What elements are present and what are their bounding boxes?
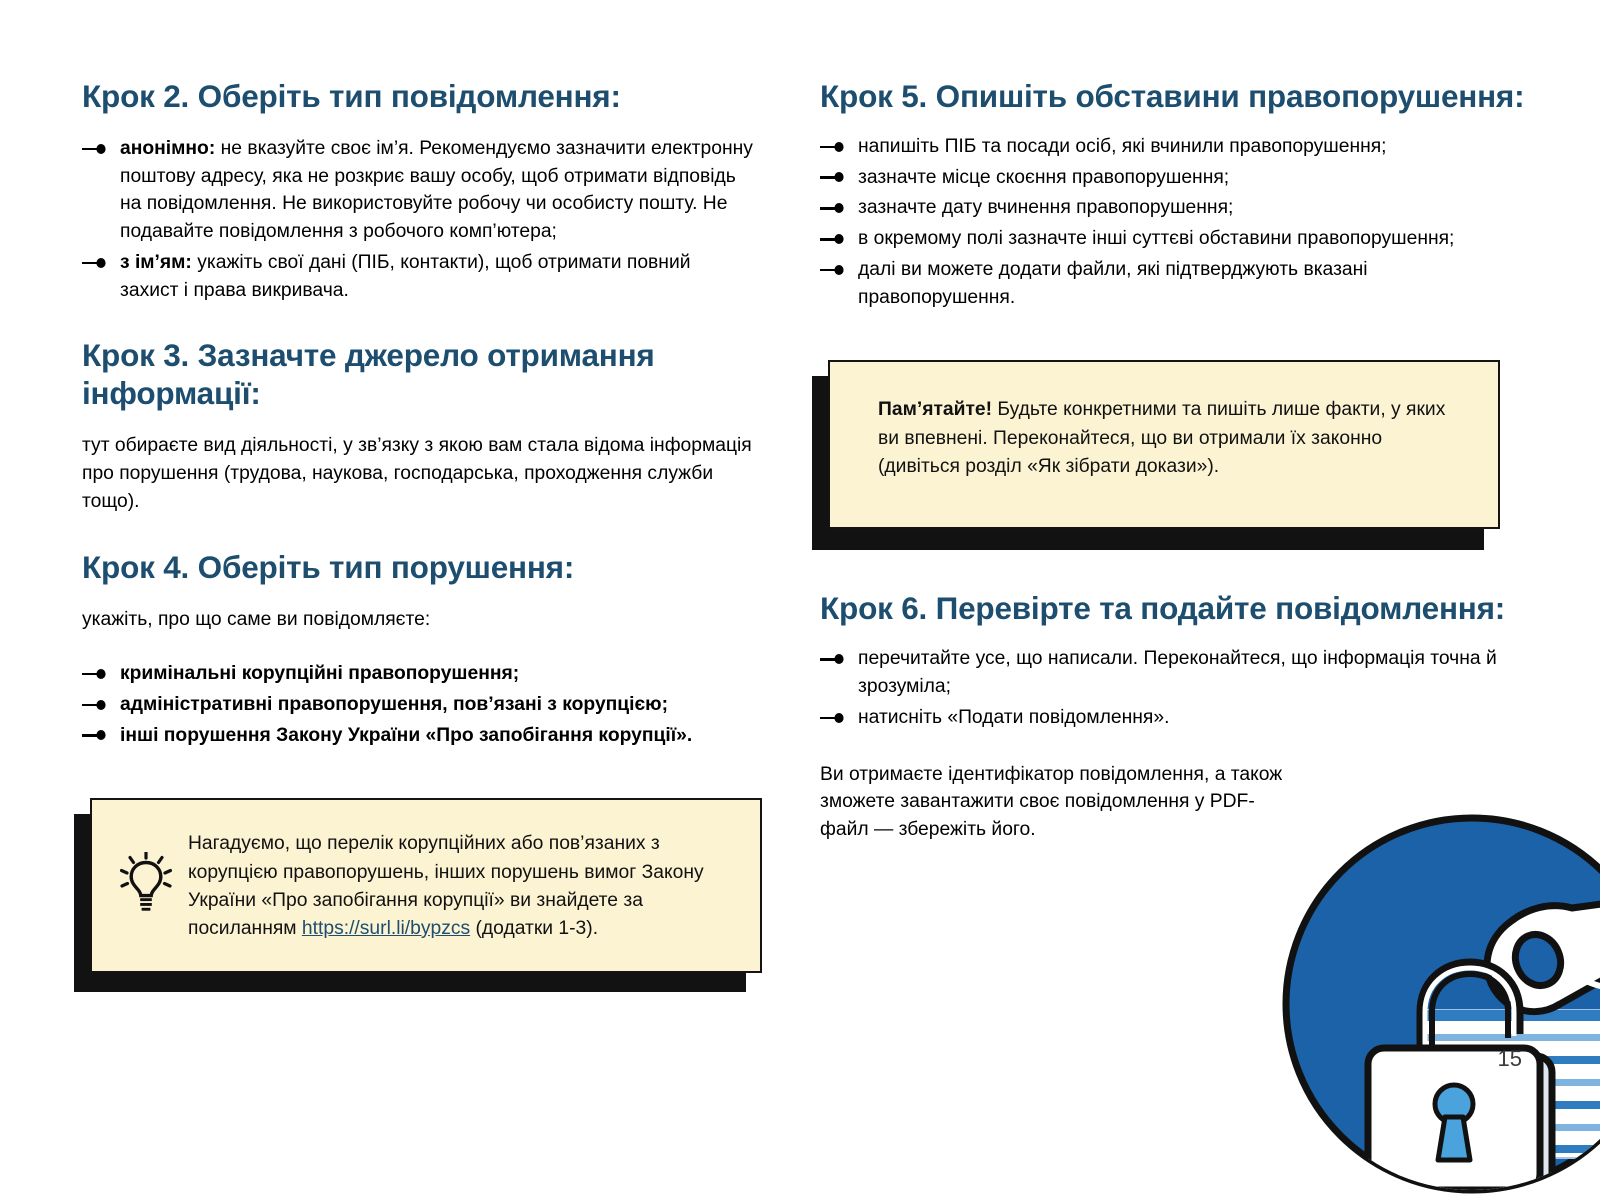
list-item-text: натисніть «Подати повідомлення». [858, 707, 1169, 728]
brochure-page: Крок 2. Оберіть тип повідомлення: анонім… [0, 0, 1600, 1130]
arrow-bullet-icon [820, 172, 848, 182]
page-number: 15 [1498, 1046, 1522, 1072]
step-5-heading: Крок 5. Опишіть обставини правопорушення… [820, 78, 1528, 116]
spacer [820, 735, 1528, 761]
step-2-list: анонімно: не вказуйте своє ім’я. Рекомен… [82, 135, 754, 305]
left-column: Крок 2. Оберіть тип повідомлення: анонім… [82, 78, 782, 1130]
step-6-paragraph: Ви отримаєте ідентифікатор повідомлення,… [820, 761, 1290, 844]
list-item-text: зазначте дату вчинення правопорушення; [858, 197, 1233, 218]
arrow-bullet-icon [82, 144, 110, 154]
list-item-text: перечитайте усе, що написали. Переконайт… [858, 648, 1497, 697]
step-5-list: напишіть ПІБ та посади осіб, які вчинили… [820, 133, 1528, 312]
list-item: адміністративні правопорушення, пов’язан… [82, 691, 754, 719]
remember-callout: Пам’ятайте! Будьте конкретними та пишіть… [828, 360, 1500, 529]
list-item: з ім’ям: укажіть свої дані (ПІБ, контакт… [82, 249, 754, 305]
list-item: зазначте дату вчинення правопорушення; [820, 194, 1528, 222]
arrow-bullet-icon [820, 265, 848, 275]
list-item: напишіть ПІБ та посади осіб, які вчинили… [820, 133, 1528, 161]
step-4-heading: Крок 4. Оберіть тип порушення: [82, 549, 754, 587]
arrow-bullet-icon [820, 654, 848, 664]
list-item: інші порушення Закону України «Про запоб… [82, 722, 754, 750]
spacer [82, 307, 754, 337]
arrow-bullet-icon [82, 730, 110, 740]
list-item: перечитайте усе, що написали. Переконайт… [820, 645, 1528, 701]
reminder-callout-wrapper: Нагадуємо, що перелік корупційних або по… [82, 792, 754, 992]
step-2-heading: Крок 2. Оберіть тип повідомлення: [82, 78, 754, 116]
arrow-bullet-icon [820, 142, 848, 152]
list-item: анонімно: не вказуйте своє ім’я. Рекомен… [82, 135, 754, 246]
step-3-heading: Крок 3. Зазначте джерело отримання інфор… [82, 337, 754, 413]
callout-text-after: (додатки 1-3). [470, 918, 598, 939]
reminder-callout-text: Нагадуємо, що перелік корупційних або по… [188, 830, 734, 943]
list-item: кримінальні корупційні правопорушення; [82, 660, 754, 688]
arrow-bullet-icon [820, 713, 848, 723]
step-4-paragraph: укажіть, про що саме ви повідомляєте: [82, 606, 754, 634]
list-item-text: укажіть свої дані (ПІБ, контакти), щоб о… [120, 252, 690, 301]
lightbulb-icon [120, 852, 172, 912]
list-item-text: далі ви можете додати файли, які підтвер… [858, 259, 1368, 308]
step-6-heading: Крок 6. Перевірте та подайте повідомленн… [820, 590, 1528, 628]
arrow-bullet-icon [82, 700, 110, 710]
spacer [82, 515, 754, 549]
list-item-text: в окремому полі зазначте інші суттєві об… [858, 228, 1454, 249]
step-6-list: перечитайте усе, що написали. Переконайт… [820, 645, 1528, 731]
spacer [820, 550, 1528, 590]
right-column: Крок 5. Опишіть обставини правопорушення… [820, 78, 1528, 1130]
callout-lead: Пам’ятайте! [878, 399, 992, 420]
arrow-bullet-icon [82, 258, 110, 268]
list-item-text: не вказуйте своє ім’я. Рекомендуємо зазн… [120, 138, 753, 242]
list-item-text: інші порушення Закону України «Про запоб… [120, 725, 692, 746]
step-3-paragraph: тут обираєте вид діяльності, у зв’язку з… [82, 432, 754, 515]
arrow-bullet-icon [820, 203, 848, 213]
arrow-bullet-icon [820, 234, 848, 244]
list-item: далі ви можете додати файли, які підтвер… [820, 256, 1528, 312]
list-item-text: адміністративні правопорушення, пов’язан… [120, 694, 668, 715]
reminder-callout: Нагадуємо, що перелік корупційних або по… [90, 798, 762, 973]
spacer [82, 752, 754, 792]
arrow-bullet-icon [82, 669, 110, 679]
reminder-link[interactable]: https://surl.li/bypzcs [302, 918, 470, 939]
list-item-text: зазначте місце скоєння правопорушення; [858, 167, 1229, 188]
list-item: в окремому полі зазначте інші суттєві об… [820, 225, 1528, 253]
step-4-list: кримінальні корупційні правопорушення; а… [82, 660, 754, 749]
spacer [820, 314, 1528, 354]
list-item-text: кримінальні корупційні правопорушення; [120, 663, 519, 684]
remember-callout-text: Пам’ятайте! Будьте конкретними та пишіть… [878, 396, 1458, 481]
list-item: зазначте місце скоєння правопорушення; [820, 164, 1528, 192]
list-item-lead: анонімно: [120, 138, 215, 159]
list-item-text: напишіть ПІБ та посади осіб, які вчинили… [858, 136, 1387, 157]
column-gutter [782, 78, 820, 1130]
list-item-lead: з ім’ям: [120, 252, 192, 273]
remember-callout-wrapper: Пам’ятайте! Будьте конкретними та пишіть… [820, 354, 1528, 550]
list-item: натисніть «Подати повідомлення». [820, 704, 1528, 732]
spacer [82, 634, 754, 660]
two-column-layout: Крок 2. Оберіть тип повідомлення: анонім… [0, 0, 1600, 1130]
